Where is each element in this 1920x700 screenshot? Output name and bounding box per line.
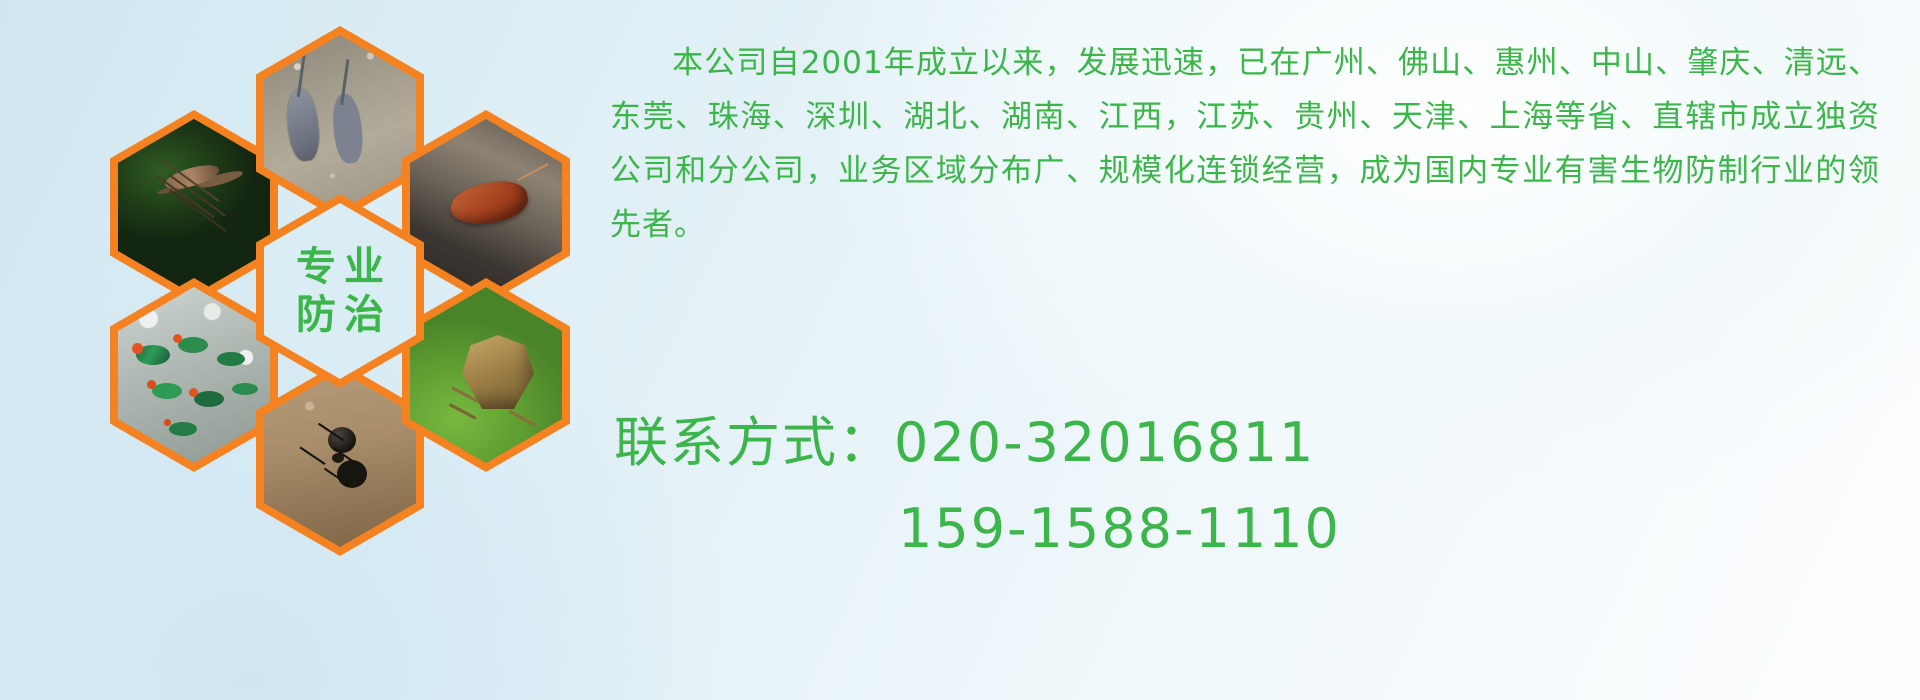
hex-tile-rats — [256, 26, 424, 220]
hex-inner — [264, 371, 416, 547]
hex-tile-cockroach — [402, 110, 570, 304]
slogan-line-2: 防治 — [288, 294, 392, 336]
flies-photo — [118, 287, 270, 463]
slogan-line-1: 专业 — [288, 246, 392, 288]
contact-block: 联系方式：020-32016811 159-1588-1110 — [614, 400, 1894, 572]
hex-inner — [410, 119, 562, 295]
hex-inner — [410, 287, 562, 463]
contact-phone-primary[interactable]: 联系方式：020-32016811 — [614, 400, 1894, 486]
contact-phone-mobile[interactable]: 159-1588-1110 — [614, 486, 1894, 572]
hex-tile-mosquito — [110, 110, 278, 304]
mosquito-photo — [118, 119, 270, 295]
stink-bug-photo — [410, 287, 562, 463]
hex-inner — [118, 287, 270, 463]
ant-photo — [264, 371, 416, 547]
hex-tile-flies — [110, 278, 278, 472]
slogan-text: 专业 防治 — [264, 203, 416, 379]
cockroach-photo — [410, 119, 562, 295]
honeycomb-collage: 专业 防治 — [80, 0, 600, 580]
company-intro-paragraph: 本公司自2001年成立以来，发展迅速，已在广州、佛山、惠州、中山、肇庆、清远、东… — [610, 36, 1880, 252]
rats-photo — [264, 35, 416, 211]
hex-inner: 专业 防治 — [264, 203, 416, 379]
hex-inner — [118, 119, 270, 295]
company-intro-block: 本公司自2001年成立以来，发展迅速，已在广州、佛山、惠州、中山、肇庆、清远、东… — [610, 36, 1880, 252]
hex-tile-center-slogan: 专业 防治 — [256, 194, 424, 388]
paragraph-text: 本公司自2001年成立以来，发展迅速，已在广州、佛山、惠州、中山、肇庆、清远、东… — [610, 45, 1880, 243]
hex-tile-stink-bug — [402, 278, 570, 472]
hex-tile-ant — [256, 362, 424, 556]
hex-inner — [264, 35, 416, 211]
